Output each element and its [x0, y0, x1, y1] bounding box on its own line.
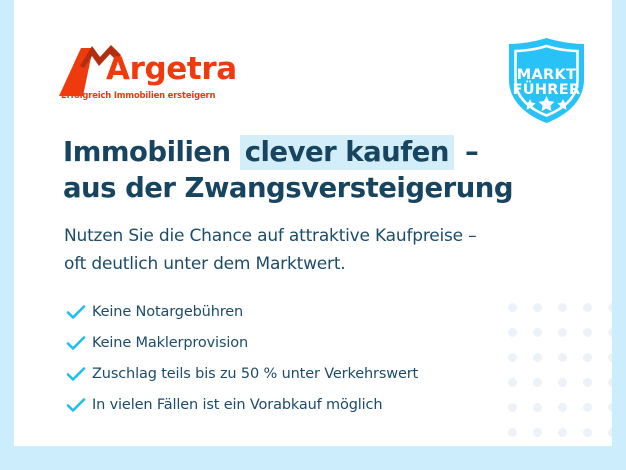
decorative-dot	[583, 303, 592, 312]
decorative-dot	[583, 328, 592, 337]
check-icon	[66, 304, 92, 320]
decorative-dot	[608, 328, 612, 337]
decorative-dot	[583, 403, 592, 412]
subtitle-line-1: Nutzen Sie die Chance auf attraktive Kau…	[64, 222, 584, 250]
decorative-dot	[558, 428, 567, 437]
decorative-dot	[608, 428, 612, 437]
headline-line-2: aus der Zwangsversteigerung	[63, 170, 583, 206]
list-item: In vielen Fällen ist ein Vorabkauf mögli…	[66, 389, 536, 420]
decorative-dot	[558, 378, 567, 387]
logo-wordmark: Argetra	[106, 54, 237, 85]
subtitle: Nutzen Sie die Chance auf attraktive Kau…	[64, 222, 584, 278]
list-item: Zuschlag teils bis zu 50 % unter Verkehr…	[66, 358, 536, 389]
decorative-dot	[608, 378, 612, 387]
decorative-dot	[583, 353, 592, 362]
decorative-dot	[583, 378, 592, 387]
headline-text-after: –	[454, 136, 478, 168]
headline-text-before: Immobilien	[63, 136, 240, 168]
headline-line-1: Immobilien clever kaufen –	[63, 134, 583, 170]
list-item: Keine Maklerprovision	[66, 327, 536, 358]
decorative-dot	[583, 428, 592, 437]
promo-banner: Argetra Erfolgreich Immobilien ersteiger…	[0, 0, 626, 470]
argetra-logo[interactable]: Argetra Erfolgreich Immobilien ersteiger…	[59, 42, 259, 108]
check-icon	[66, 397, 92, 413]
list-item: Keine Notargebühren	[66, 296, 536, 327]
decorative-dot	[558, 403, 567, 412]
list-item-label: Zuschlag teils bis zu 50 % unter Verkehr…	[92, 366, 418, 382]
logo-tagline: Erfolgreich Immobilien ersteigern	[61, 90, 215, 100]
check-icon	[66, 366, 92, 382]
decorative-dot	[508, 428, 517, 437]
decorative-dot	[558, 328, 567, 337]
benefit-list: Keine Notargebühren Keine Maklerprovisio…	[66, 296, 536, 420]
markt-fuehrer-badge: MARKT FÜHRER	[501, 36, 592, 125]
list-item-label: In vielen Fällen ist ein Vorabkauf mögli…	[92, 397, 382, 413]
badge-line-1: MARKT	[517, 67, 576, 83]
decorative-dot	[608, 353, 612, 362]
decorative-dot	[533, 428, 542, 437]
decorative-dot	[558, 303, 567, 312]
badge-line-2: FÜHRER	[513, 80, 581, 98]
list-item-label: Keine Notargebühren	[92, 304, 243, 320]
headline-highlight: clever kaufen	[240, 135, 454, 170]
banner-card: Argetra Erfolgreich Immobilien ersteiger…	[14, 0, 612, 446]
list-item-label: Keine Maklerprovision	[92, 335, 248, 351]
subtitle-line-2: oft deutlich unter dem Marktwert.	[64, 250, 584, 278]
decorative-dot	[608, 403, 612, 412]
page-title: Immobilien clever kaufen – aus der Zwang…	[63, 134, 583, 206]
decorative-dot	[558, 353, 567, 362]
check-icon	[66, 335, 92, 351]
decorative-dot	[608, 303, 612, 312]
